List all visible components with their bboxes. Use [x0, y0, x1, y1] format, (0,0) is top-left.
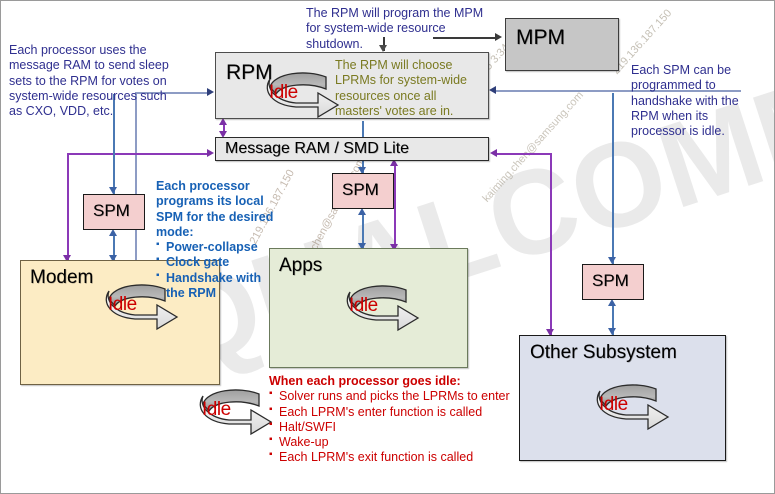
annotation-spm-local: Each processor programs its local SPM fo…: [156, 179, 276, 301]
watermark-email-2: kaiming.chen@samsung.com: [480, 89, 586, 204]
arrowhead-spm-mid-to-apps-up: [358, 208, 366, 215]
arrowhead-right-annotation-to-rpm: [489, 86, 496, 94]
list-item: Solver runs and picks the LPRMs to enter: [269, 389, 517, 404]
arrowhead-annotation-to-rpm: [207, 88, 214, 96]
list-item: Halt/SWFI: [269, 420, 517, 435]
list-item: Each LPRM's enter function is called: [269, 405, 517, 420]
annotation-mpm-shutdown: The RPM will program the MPM for system-…: [306, 6, 491, 52]
mpm-box[interactable]: MPM: [505, 18, 619, 71]
arrowhead-spm-left-to-modem-up: [109, 229, 117, 236]
spm-box-modem-label: SPM: [93, 201, 130, 221]
idle-label-other: Idle: [599, 394, 628, 416]
annotation-idle-heading: When each processor goes idle:: [269, 374, 517, 389]
annotation-idle-bullets: Solver runs and picks the LPRMs to enter…: [269, 389, 517, 465]
connector-apps-to-msgram: [394, 164, 396, 250]
idle-label-legend: Idle: [202, 399, 231, 421]
arrowhead-spm-left-down: [109, 187, 117, 194]
list-item: Power-collapse: [156, 240, 276, 255]
connector-other-to-msgram-vertical: [550, 153, 552, 337]
spm-box-modem[interactable]: SPM: [83, 194, 145, 230]
list-item: Each LPRM's exit function is called: [269, 450, 517, 465]
annotation-spm-local-bullets: Power-collapse Clock gate Handshake with…: [156, 240, 276, 301]
annotation-message-ram: Each processor uses the message RAM to s…: [9, 43, 177, 119]
idle-label-apps: Idle: [349, 295, 378, 317]
diagram-canvas: QUALCOMM 219.136.187.150 kaiming.chen@sa…: [0, 0, 775, 494]
list-item: Wake-up: [269, 435, 517, 450]
apps-box-label: Apps: [279, 255, 322, 277]
modem-box-label: Modem: [30, 267, 93, 289]
idle-arrow-apps: Idle: [336, 280, 428, 332]
idle-label-modem: Idle: [108, 294, 137, 316]
arrowhead-spm-right-down: [608, 257, 616, 264]
connector-modem-to-msgram-horizontal: [67, 153, 209, 155]
arrowhead-rpm-msgram-up: [219, 118, 227, 125]
arrowhead-msgram-left: [207, 149, 214, 157]
annotation-rpm-lprm: The RPM will choose LPRMs for system-wid…: [335, 58, 485, 119]
spm-box-other[interactable]: SPM: [582, 264, 644, 300]
spm-box-apps[interactable]: SPM: [332, 173, 394, 209]
message-ram-box-label: Message RAM / SMD Lite: [225, 140, 409, 158]
idle-arrow-other: Idle: [586, 379, 678, 431]
spm-box-apps-label: SPM: [342, 180, 379, 200]
arrowhead-spm-right-to-other-up: [608, 299, 616, 306]
idle-arrow-legend: Idle: [189, 384, 281, 436]
list-item: Handshake with the RPM: [156, 271, 276, 302]
idle-label-rpm: Idle: [269, 82, 298, 104]
connector-spm-right-up: [612, 93, 614, 264]
arrowhead-msgram-right: [490, 149, 497, 157]
annotation-idle-sequence: When each processor goes idle: Solver ru…: [269, 374, 517, 466]
connector-modem-to-msgram-vertical: [67, 153, 69, 263]
mpm-box-label: MPM: [516, 26, 565, 50]
arrowhead-annotation-to-mpm: [495, 33, 502, 41]
arrowhead-spm-right-to-other-down: [608, 328, 616, 335]
other-subsystem-box-label: Other Subsystem: [530, 342, 677, 364]
annotation-spm-local-heading: Each processor programs its local SPM fo…: [156, 179, 276, 240]
annotation-spm-handshake: Each SPM can be programmed to handshake …: [631, 63, 751, 139]
message-ram-box[interactable]: Message RAM / SMD Lite: [215, 137, 489, 161]
spm-box-other-label: SPM: [592, 271, 629, 291]
connector-other-to-msgram-horizontal: [497, 153, 551, 155]
list-item: Clock gate: [156, 255, 276, 270]
